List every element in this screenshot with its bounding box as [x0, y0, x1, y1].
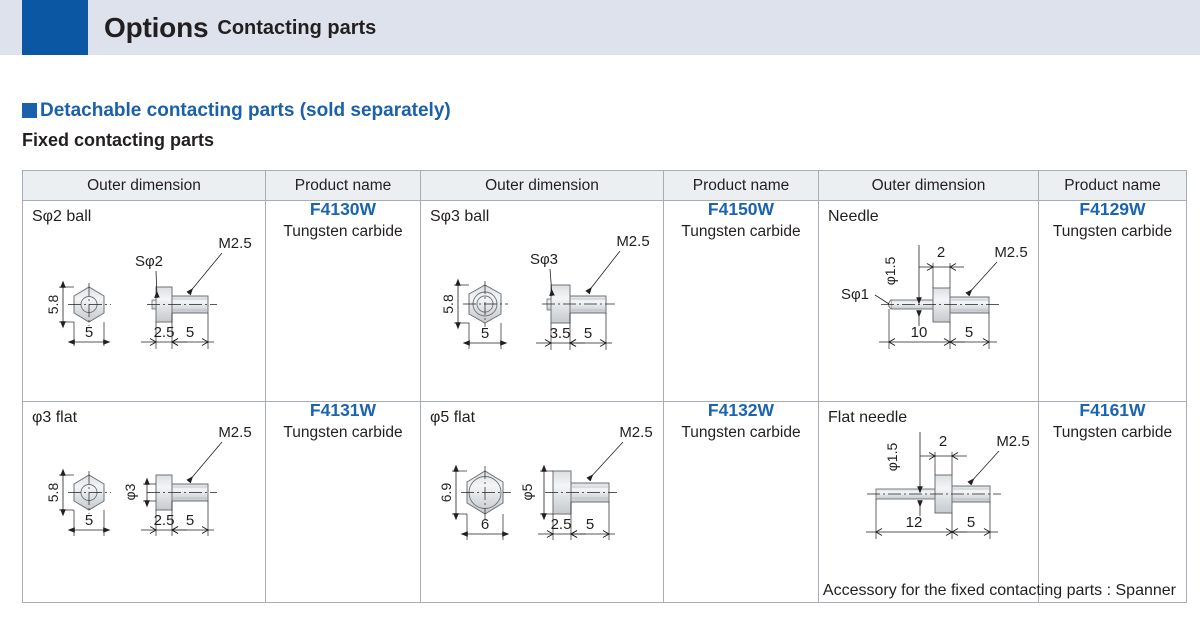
column-header-outer-dimension-2: Outer dimension — [421, 171, 664, 201]
drawing-cell-flat-needle: Flat needle φ1.5 — [819, 402, 1039, 603]
technical-drawing-phi5-flat: 6.9 6 φ5 M2.5 — [421, 402, 664, 592]
table-header-row: Outer dimension Product name Outer dimen… — [23, 171, 1187, 201]
product-cell-f4150w: F4150W Tungsten carbide — [664, 201, 819, 402]
drawing-label-tip: Sφ2 — [135, 253, 163, 270]
svg-text:2.5: 2.5 — [154, 512, 175, 529]
svg-text:5: 5 — [186, 324, 194, 341]
technical-drawing-flat-needle: φ1.5 2 M2.5 — [819, 402, 1039, 592]
product-code: F4150W — [664, 201, 818, 219]
svg-text:2.5: 2.5 — [154, 324, 175, 341]
drawing-label-shaft-dia: φ1.5 — [884, 443, 900, 472]
svg-text:5: 5 — [586, 516, 594, 533]
svg-text:3.5: 3.5 — [550, 325, 571, 342]
drawing-label-thread: M2.5 — [218, 235, 251, 252]
svg-text:5: 5 — [85, 512, 93, 529]
header-main-title: Options — [104, 14, 208, 42]
svg-text:5.8: 5.8 — [45, 483, 61, 503]
column-header-outer-dimension-1: Outer dimension — [23, 171, 266, 201]
drawing-cell-phi3-flat: φ3 flat 5.8 5 — [23, 402, 266, 603]
svg-text:5: 5 — [186, 512, 194, 529]
svg-text:5: 5 — [481, 325, 489, 342]
product-material: Tungsten carbide — [664, 224, 818, 240]
drawing-label-collar: 2 — [937, 244, 945, 261]
accessory-note: Accessory for the fixed contacting parts… — [823, 583, 1176, 599]
product-code: F4131W — [266, 402, 420, 420]
svg-text:5.8: 5.8 — [440, 294, 456, 314]
svg-text:6.9: 6.9 — [438, 483, 454, 503]
table-row: φ3 flat 5.8 5 — [23, 402, 1187, 603]
fixed-contacting-parts-table: Outer dimension Product name Outer dimen… — [22, 170, 1187, 603]
technical-drawing-phi3-flat: 5.8 5 φ3 M2.5 — [23, 402, 266, 592]
drawing-label-thread: M2.5 — [218, 424, 251, 441]
drawing-cell-sphi2-ball: Sφ2 ball — [23, 201, 266, 402]
product-material: Tungsten carbide — [664, 425, 818, 441]
page-header-bar: Options Contacting parts — [0, 0, 1200, 55]
drawing-label-thread: M2.5 — [994, 244, 1027, 261]
drawing-label-thread: M2.5 — [616, 233, 649, 250]
section-heading-detachable-label: Detachable contacting parts (sold separa… — [40, 101, 451, 120]
svg-text:2.5: 2.5 — [551, 516, 572, 533]
table-row: Sφ2 ball — [23, 201, 1187, 402]
section-heading-fixed: Fixed contacting parts — [22, 131, 214, 149]
header-sub-title: Contacting parts — [217, 18, 376, 38]
section-heading-detachable: Detachable contacting parts (sold separa… — [22, 101, 451, 120]
drawing-cell-needle: Needle Sφ1 — [819, 201, 1039, 402]
drawing-label-tip: Sφ1 — [841, 286, 869, 303]
technical-drawing-needle: Sφ1 φ1.5 2 M2.5 — [819, 201, 1039, 401]
svg-text:5: 5 — [967, 514, 975, 531]
page-title: Options Contacting parts — [104, 0, 376, 55]
column-header-outer-dimension-3: Outer dimension — [819, 171, 1039, 201]
svg-text:12: 12 — [906, 514, 923, 531]
product-cell-f4161w: F4161W Tungsten carbide — [1039, 402, 1187, 603]
svg-text:5: 5 — [965, 324, 973, 341]
product-material: Tungsten carbide — [266, 224, 420, 240]
product-code: F4132W — [664, 402, 818, 420]
product-code: F4130W — [266, 201, 420, 219]
drawing-label-tip: φ5 — [519, 483, 535, 500]
drawing-label-collar: 2 — [939, 433, 947, 450]
product-cell-f4132w: F4132W Tungsten carbide — [664, 402, 819, 603]
drawing-label-thread: M2.5 — [996, 433, 1029, 450]
column-header-product-name-3: Product name — [1039, 171, 1187, 201]
svg-text:5.8: 5.8 — [45, 295, 61, 315]
header-blue-square-icon — [22, 0, 88, 55]
drawing-label-tip: φ3 — [122, 483, 138, 500]
drawing-label-tip: Sφ3 — [530, 251, 558, 268]
technical-drawing-sphi3-ball: 5.8 5 Sφ3 M2.5 — [421, 201, 664, 401]
product-material: Tungsten carbide — [1039, 224, 1186, 240]
drawing-cell-sphi3-ball: Sφ3 ball 5.8 5 — [421, 201, 664, 402]
technical-drawing-sphi2-ball: 5.8 5 — [23, 201, 266, 401]
blue-square-bullet-icon — [22, 103, 37, 118]
svg-text:6: 6 — [481, 516, 489, 533]
drawing-label-thread: M2.5 — [619, 424, 652, 441]
column-header-product-name-1: Product name — [266, 171, 421, 201]
product-material: Tungsten carbide — [1039, 425, 1186, 441]
column-header-product-name-2: Product name — [664, 171, 819, 201]
product-code: F4129W — [1039, 201, 1186, 219]
product-cell-f4131w: F4131W Tungsten carbide — [266, 402, 421, 603]
product-code: F4161W — [1039, 402, 1186, 420]
svg-text:10: 10 — [911, 324, 928, 341]
svg-text:5: 5 — [85, 324, 93, 341]
product-material: Tungsten carbide — [266, 425, 420, 441]
drawing-label-shaft-dia: φ1.5 — [882, 257, 898, 286]
product-cell-f4130w: F4130W Tungsten carbide — [266, 201, 421, 402]
drawing-cell-phi5-flat: φ5 flat 6.9 6 — [421, 402, 664, 603]
product-cell-f4129w: F4129W Tungsten carbide — [1039, 201, 1187, 402]
svg-text:5: 5 — [584, 325, 592, 342]
